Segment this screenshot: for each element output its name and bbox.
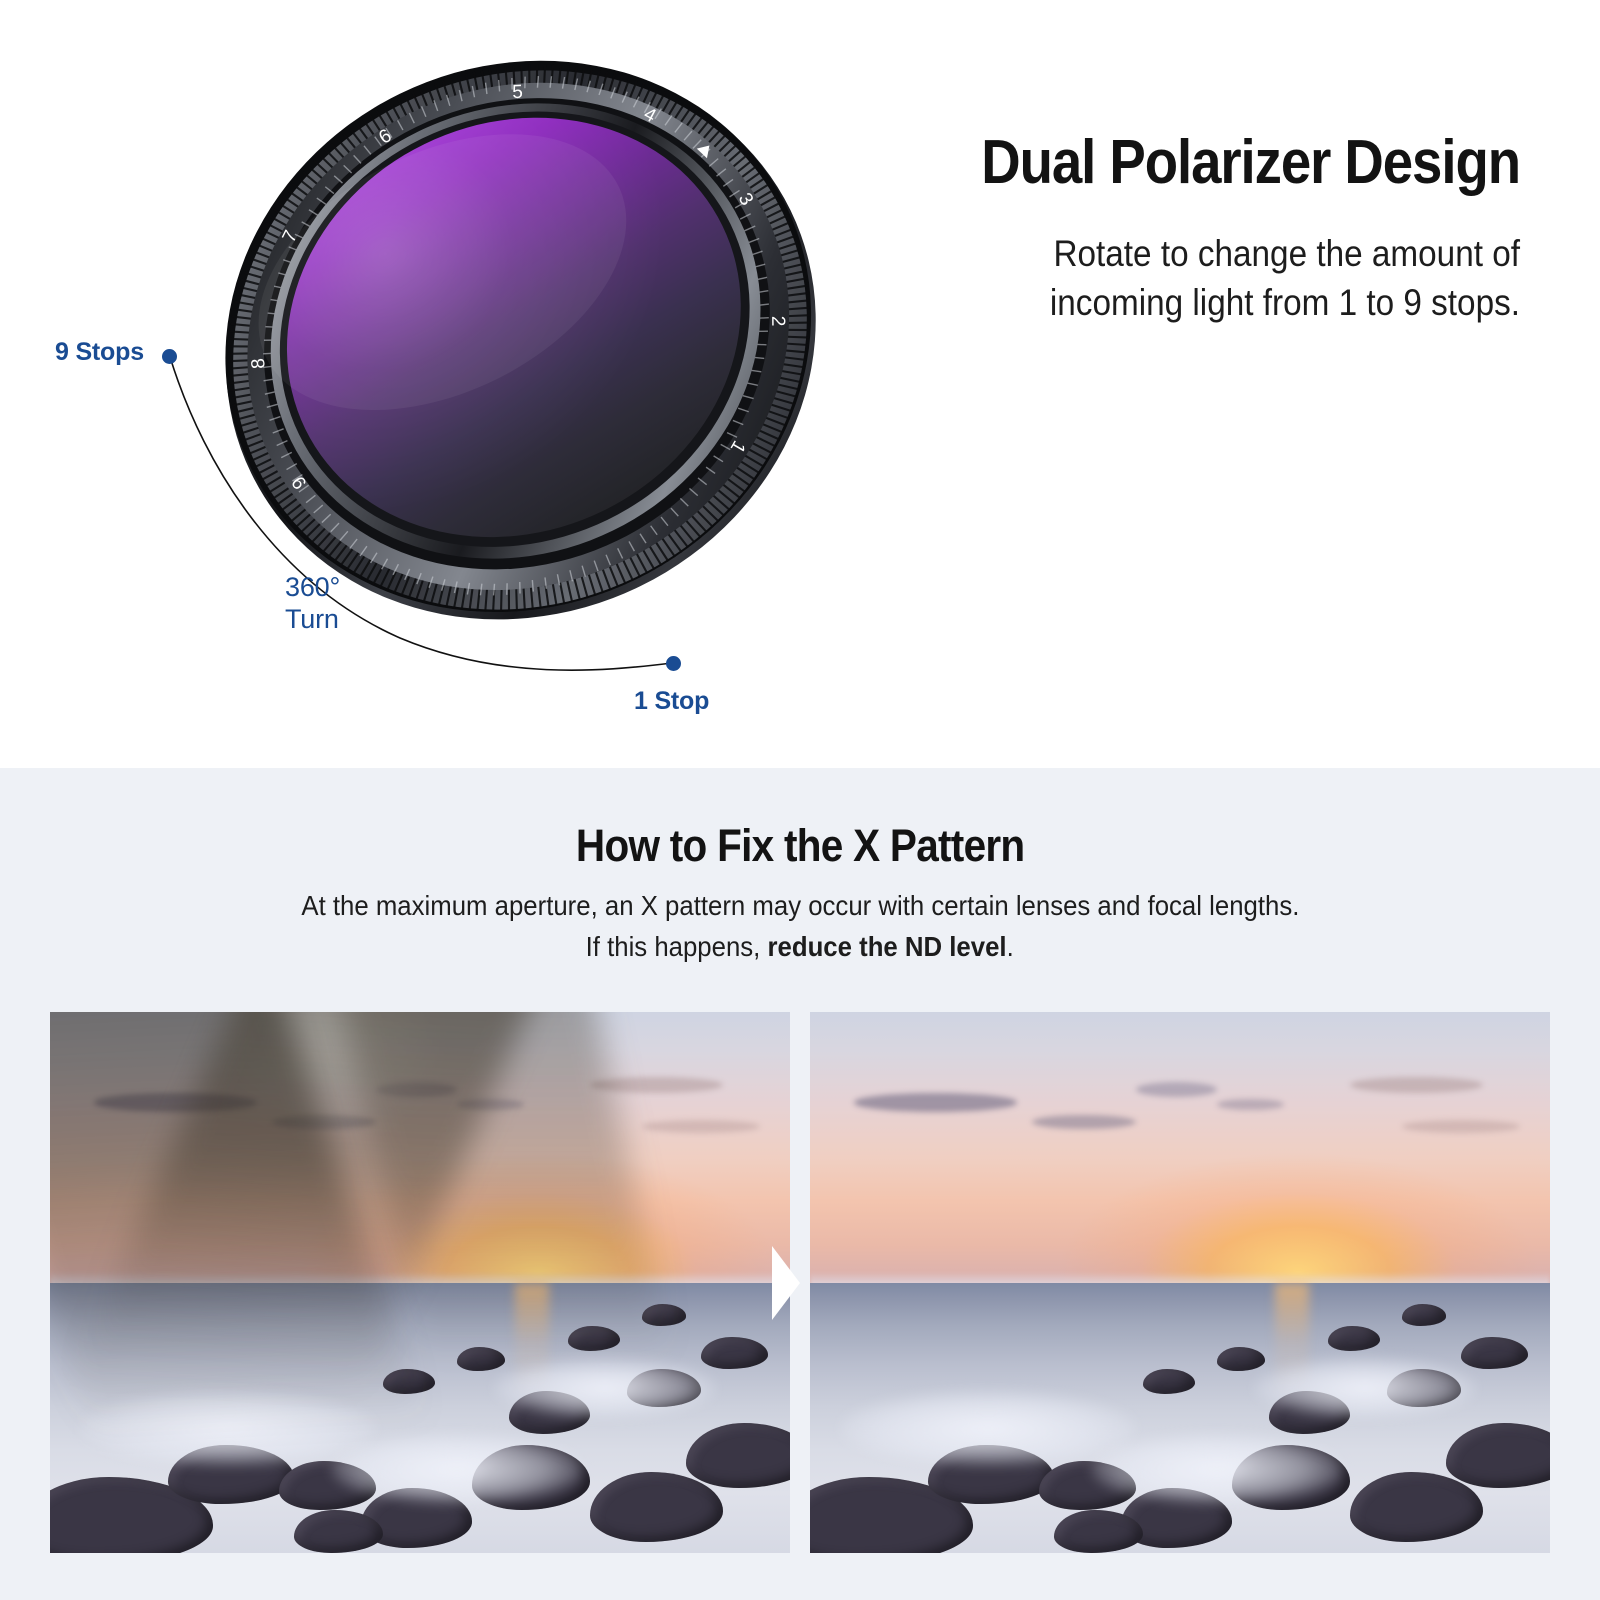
page-title: Dual Polarizer Design — [922, 130, 1520, 195]
nd-scale-mark: 2 — [767, 316, 788, 327]
cloud — [94, 1093, 257, 1111]
sea-mist — [1091, 1434, 1343, 1504]
callout-dot-min — [666, 656, 681, 671]
section-body: At the maximum aperture, an X pattern ma… — [0, 886, 1600, 967]
body-emphasis: reduce the ND level — [768, 931, 1007, 962]
callout-dot-max — [162, 349, 177, 364]
page-subtitle: Rotate to change the amount of incoming … — [908, 229, 1520, 327]
subtitle-line-1: Rotate to change the amount of — [908, 229, 1520, 278]
rock — [1143, 1369, 1195, 1394]
nd-filter-illustration: 987654321 — [150, 30, 890, 650]
rock — [1328, 1326, 1380, 1351]
sea-mist — [840, 1391, 1136, 1467]
cloud — [1032, 1115, 1136, 1129]
rock — [568, 1326, 620, 1351]
sky-before — [50, 1012, 790, 1283]
nd-scale-mark: 8 — [248, 357, 270, 369]
sky-after — [810, 1012, 1550, 1283]
cloud — [590, 1077, 723, 1093]
cloud — [272, 1115, 376, 1129]
body-suffix: . — [1007, 931, 1014, 962]
callout-label-min-stops: 1 Stop — [634, 687, 709, 716]
rock — [1461, 1337, 1528, 1369]
rotation-degrees: 360° — [285, 572, 340, 604]
rock — [383, 1369, 435, 1394]
section-heading: How to Fix the X Pattern — [0, 820, 1600, 872]
callout-label-rotation: 360° Turn — [285, 572, 340, 636]
cloud — [854, 1093, 1017, 1111]
sea-mist — [80, 1391, 376, 1467]
sea-mist — [494, 1358, 716, 1418]
sea-mist — [1254, 1358, 1476, 1418]
x-pattern-section: How to Fix the X Pattern At the maximum … — [0, 768, 1600, 1600]
body-prefix: If this happens, — [586, 931, 768, 962]
subtitle-line-2: incoming light from 1 to 9 stops. — [908, 278, 1520, 327]
body-line-2: If this happens, reduce the ND level. — [0, 927, 1600, 968]
body-line-1: At the maximum aperture, an X pattern ma… — [0, 886, 1600, 927]
sea-mist — [331, 1434, 583, 1504]
chevron-right-icon — [772, 1246, 802, 1320]
rotation-word: Turn — [285, 604, 340, 636]
rock — [1402, 1304, 1446, 1326]
filter-graphic: 987654321 — [150, 30, 890, 650]
dual-polarizer-section: 987654321 9 Stops 1 Stop 360° Turn Dual … — [0, 0, 1600, 768]
filter-body — [150, 30, 890, 650]
section-heading-text: How to Fix the X Pattern — [576, 820, 1025, 872]
rock — [701, 1337, 768, 1369]
headline-block: Dual Polarizer Design Rotate to change t… — [840, 130, 1520, 328]
nd-scale-mark: 5 — [512, 82, 523, 103]
cloud — [1350, 1077, 1483, 1093]
rock — [642, 1304, 686, 1326]
photo-before-x-pattern — [50, 1012, 790, 1553]
photo-after-corrected — [810, 1012, 1550, 1553]
callout-label-max-stops: 9 Stops — [55, 338, 144, 367]
